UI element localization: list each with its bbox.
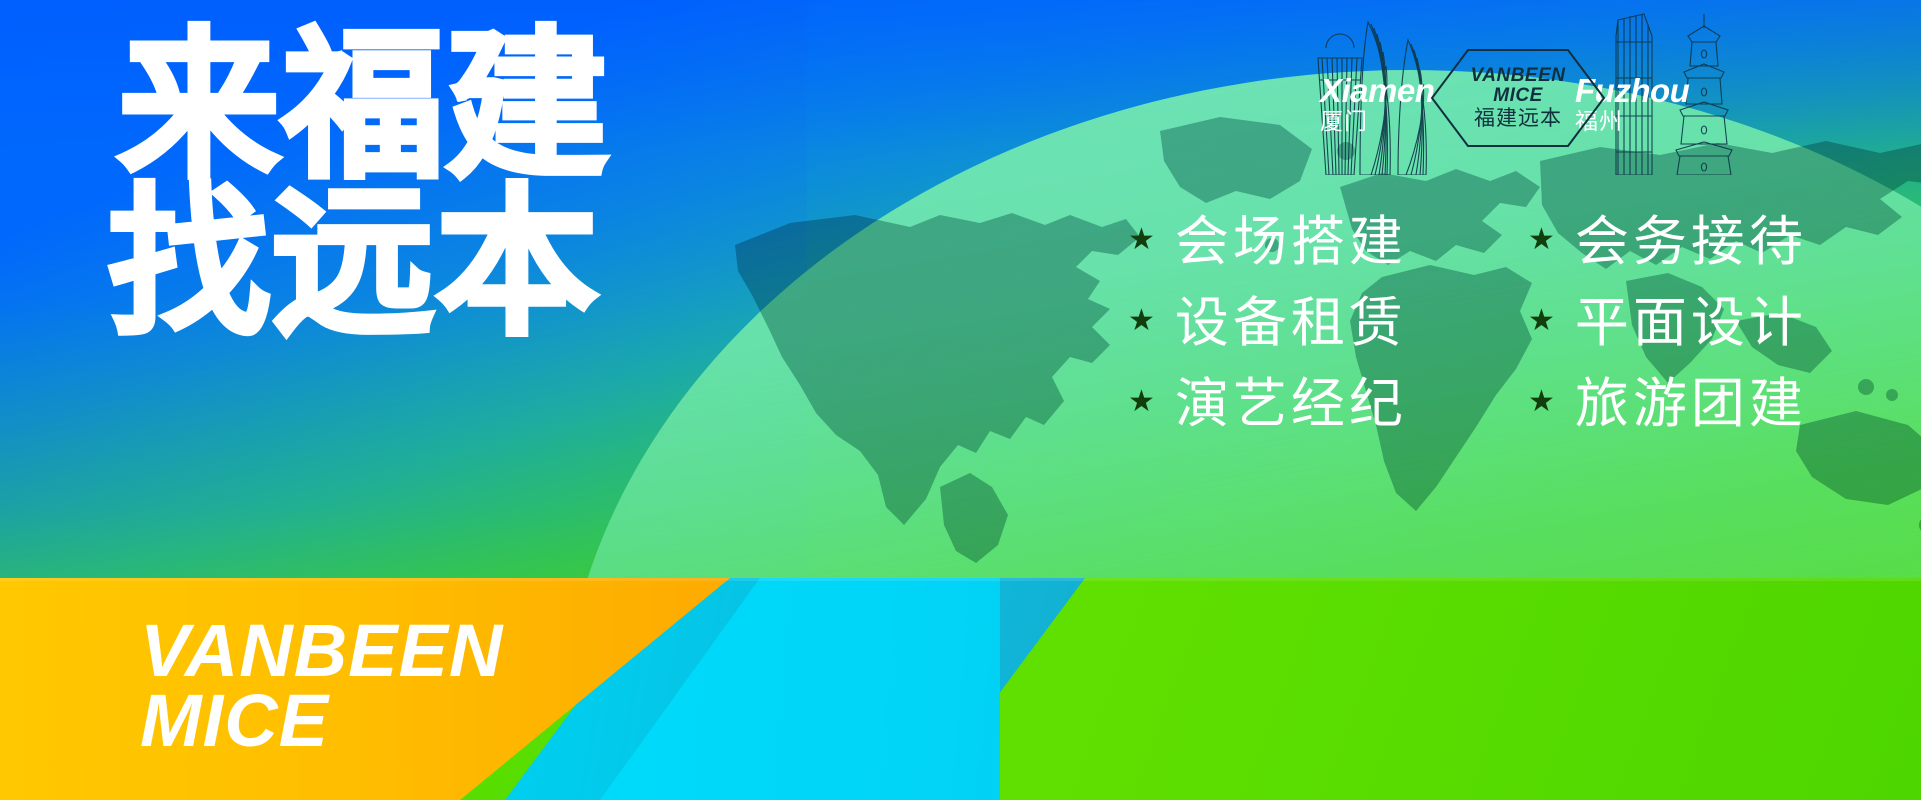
page-title: 来福建 找远本 [118, 28, 738, 342]
star-icon: ★ [1128, 387, 1159, 417]
service-item-venue-setup[interactable]: ★ 会场搭建 [1128, 210, 1518, 275]
city-label-xiamen: Xiamen 厦门 [1320, 74, 1434, 136]
service-item-travel-teambuilding[interactable]: ★ 旅游团建 [1528, 372, 1918, 437]
brand-wordmark: VANBEEN MICE [140, 616, 503, 757]
service-label: 平面设计 [1575, 291, 1807, 356]
city-landmark-cluster: Xiamen 厦门 Fuzhou 福州 VANBEEN MICE 福建远本 [1300, 0, 1780, 175]
service-item-equipment-rental[interactable]: ★ 设备租赁 [1128, 291, 1407, 356]
service-item-performance-agency[interactable]: ★ 演艺经纪 [1128, 372, 1407, 437]
service-item-conference-reception[interactable]: ★ 会务接待 [1528, 210, 1918, 275]
service-item-graphic-design[interactable]: ★ 平面设计 [1528, 291, 1918, 356]
headline-line-1: 来福建 [118, 28, 738, 185]
star-icon: ★ [1528, 225, 1559, 255]
badge-en-line-1: VANBEEN [1471, 66, 1566, 86]
vanbeen-hexagon-logo[interactable]: VANBEEN MICE 福建远本 [1430, 48, 1606, 148]
ribbon-top-divider [0, 578, 1921, 581]
banner-stage: 来福建 找远本 ★ 会场搭建 ★ 会务接待 ★ 设备租赁 ★ 平面设计 ★ [0, 0, 1921, 578]
service-label: 会场搭建 [1175, 210, 1407, 275]
service-list: ★ 会场搭建 ★ 会务接待 ★ 设备租赁 ★ 平面设计 ★ 演艺经纪 ★ 旅游团… [1128, 210, 1918, 436]
service-label: 会务接待 [1575, 210, 1807, 275]
star-icon: ★ [1128, 225, 1159, 255]
bottom-ribbon: VANBEEN MICE [0, 578, 1921, 800]
badge-en-line-2: MICE [1471, 86, 1566, 106]
service-label: 演艺经纪 [1175, 372, 1407, 437]
promotional-banner: 来福建 找远本 ★ 会场搭建 ★ 会务接待 ★ 设备租赁 ★ 平面设计 ★ [0, 0, 1921, 800]
star-icon: ★ [1528, 387, 1559, 417]
star-icon: ★ [1128, 306, 1159, 336]
brand-line-2: MICE [140, 686, 503, 756]
city-name-en: Xiamen [1320, 74, 1434, 107]
star-icon: ★ [1528, 306, 1559, 336]
headline-line-2: 找远本 [108, 185, 738, 342]
badge-cn-line: 福建远本 [1471, 108, 1566, 130]
city-name-cn: 厦门 [1320, 107, 1434, 136]
service-label: 设备租赁 [1175, 291, 1407, 356]
service-label: 旅游团建 [1575, 372, 1807, 437]
